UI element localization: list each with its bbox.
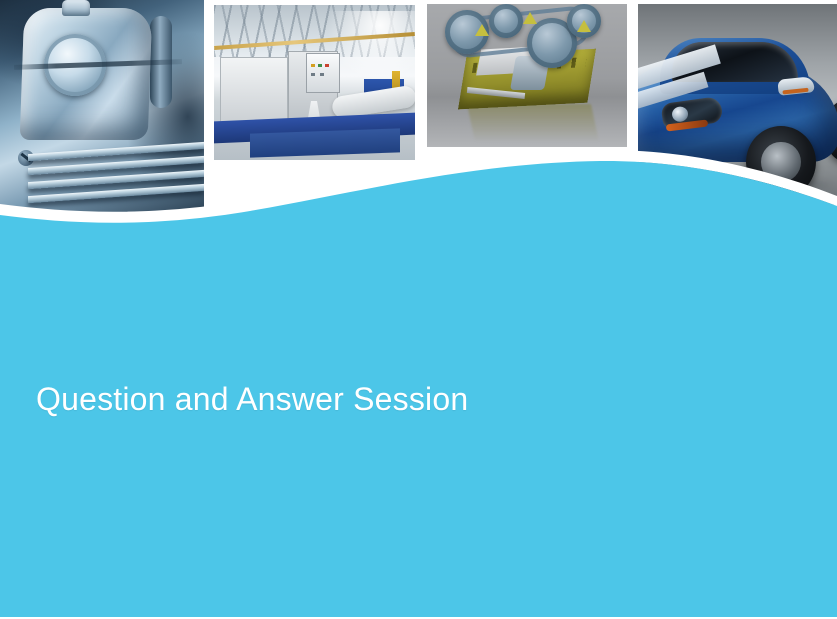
photo-cad-machine-assembly: [427, 4, 627, 147]
cad-photo-scene: [427, 4, 627, 147]
cad-bracket-tab-2: [523, 12, 537, 24]
factory-control-panel: [306, 53, 340, 93]
cad-pulley-2: [489, 4, 523, 38]
photo-blue-sports-car: [638, 4, 837, 205]
factory-machine-left: [220, 57, 288, 127]
car-front-wheel: [746, 126, 816, 198]
photo-factory-machine-hall: [214, 5, 415, 160]
engine-filler-cap: [62, 0, 90, 16]
car-photo-scene: [638, 4, 837, 205]
factory-blue-base-rail-secondary: [250, 128, 400, 157]
engine-cooling-fins: [28, 142, 204, 212]
photo-strip: [0, 0, 837, 215]
cad-floor-reflection: [467, 104, 599, 142]
photo-engine-cylinder-head: [0, 0, 204, 212]
factory-photo-scene: [214, 5, 415, 160]
engine-photo-scene: [0, 0, 204, 212]
cad-bracket-tab-3: [577, 20, 591, 32]
page-title: Question and Answer Session: [36, 380, 468, 418]
cad-bracket-tab-1: [475, 24, 489, 36]
slide-canvas: Question and Answer Session: [0, 0, 837, 619]
